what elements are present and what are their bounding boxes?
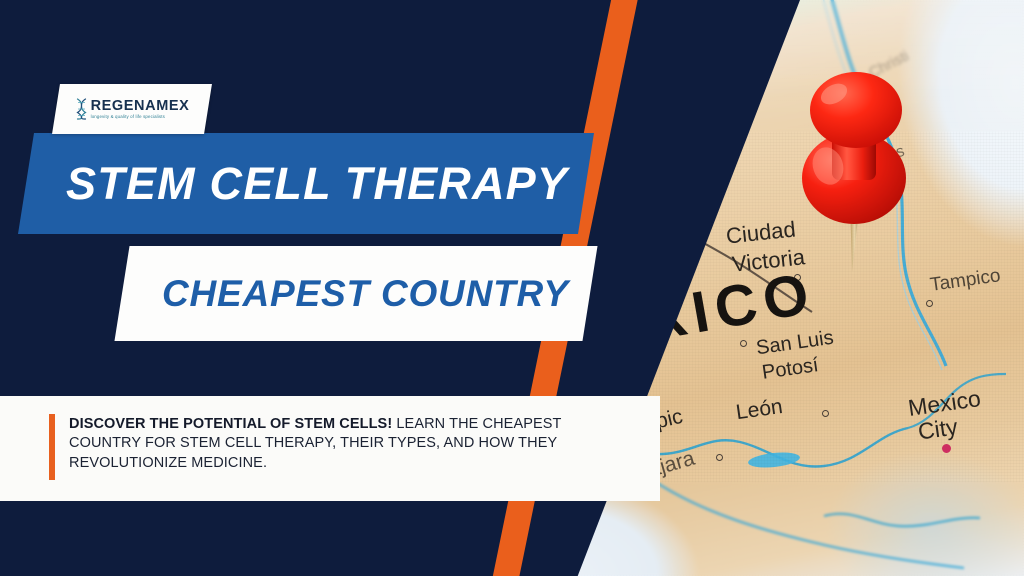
promo-banner-graphic: San Antonio Antonio Corpus Christi Rio G…	[0, 0, 1024, 576]
brand-name: REGENAMEX	[91, 99, 190, 114]
headline-banner-secondary: CHEAPEST COUNTRY	[114, 246, 597, 341]
description-strip: DISCOVER THE POTENTIAL OF STEM CELLS! LE…	[0, 396, 660, 501]
map-label: City	[916, 413, 959, 445]
map-city-dot	[740, 340, 747, 347]
red-pushpin-icon	[794, 60, 924, 280]
map-city-dot	[926, 300, 933, 307]
map-city-dot	[716, 454, 723, 461]
brand-tagline: longevity & quality of life specialists	[91, 115, 190, 119]
headline-line-2: CHEAPEST COUNTRY	[162, 273, 569, 315]
description-text: DISCOVER THE POTENTIAL OF STEM CELLS! LE…	[69, 415, 627, 473]
map-capital-dot	[942, 444, 951, 453]
brand-logo[interactable]: REGENAMEX longevity & quality of life sp…	[52, 84, 212, 134]
map-city-dot	[822, 410, 829, 417]
headline-line-1: STEM CELL THERAPY	[66, 158, 568, 210]
description-lead: DISCOVER THE POTENTIAL OF STEM CELLS!	[69, 416, 392, 432]
headline-banner-primary: STEM CELL THERAPY	[18, 133, 594, 234]
orange-accent-bar	[49, 414, 55, 480]
dna-helix-icon	[75, 98, 88, 120]
